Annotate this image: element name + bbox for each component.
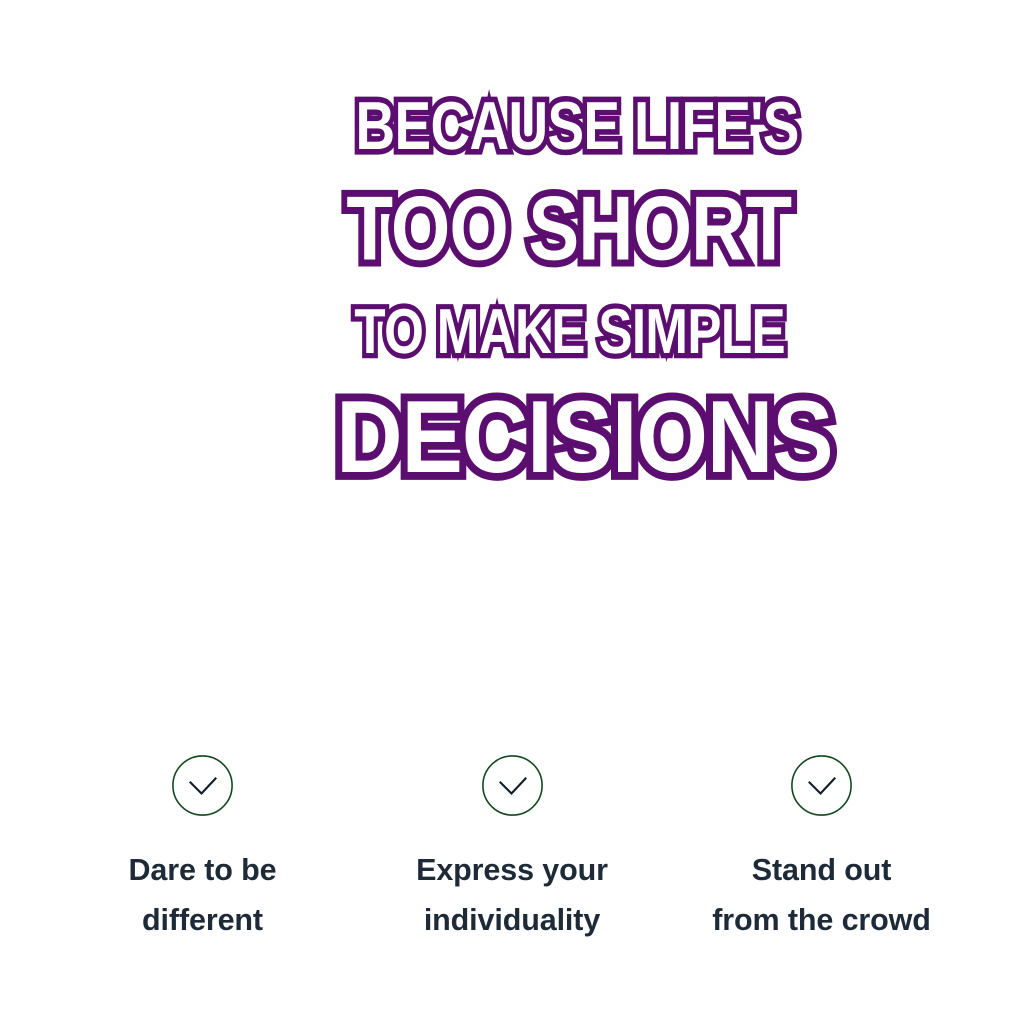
feature-label: Dare to be different (129, 845, 277, 945)
feature-item-express-your-individuality: Express your individuality (358, 755, 667, 945)
feature-label: Stand out from the crowd (712, 845, 931, 945)
headline-line-1: BECAUSE LIFE'S (356, 92, 673, 160)
feature-item-dare-to-be-different: Dare to be different (48, 755, 357, 945)
headline-line-2: TOO SHORT (346, 184, 681, 275)
headline-line-3: TO MAKE SIMPLE (354, 300, 673, 364)
check-circle-icon (482, 755, 543, 816)
feature-label: Express your individuality (416, 845, 608, 945)
check-circle-icon (791, 755, 852, 816)
poster-canvas: BECAUSE LIFE'S TOO SHORT TO MAKE SIMPLE … (0, 0, 1024, 1024)
check-circle-icon (172, 755, 233, 816)
feature-row: Dare to be different Express your indivi… (48, 755, 976, 945)
headline-line-4: DECISIONS (336, 386, 692, 489)
headline-block: BECAUSE LIFE'S TOO SHORT TO MAKE SIMPLE … (286, 78, 742, 503)
feature-item-stand-out-from-the-crowd: Stand out from the crowd (667, 755, 976, 945)
